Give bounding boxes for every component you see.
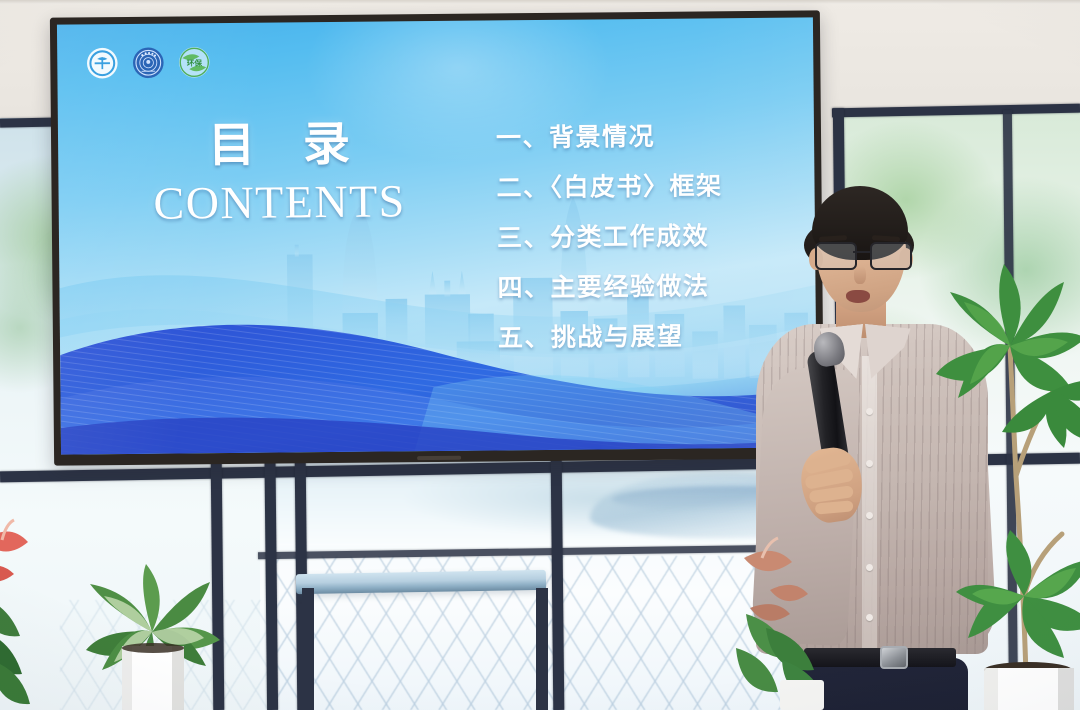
toc-item-5[interactable]: 五、挑战与展望 xyxy=(498,324,724,351)
belt-buckle xyxy=(880,646,908,669)
wall-mounted-tv[interactable]: 环保 目 录 CONTENTS 一、背景情况 二、〈白皮书〉框架 三、分类工作成… xyxy=(50,10,824,465)
slide-toc-list: 一、背景情况 二、〈白皮书〉框架 三、分类工作成效 四、主要经验做法 五、挑战与… xyxy=(496,124,724,351)
ceiling-line xyxy=(0,0,1080,4)
nose xyxy=(854,266,866,284)
slide-title-en: CONTENTS xyxy=(114,174,445,231)
shirt-button-1 xyxy=(866,408,873,415)
green-environment-logo: 环保 xyxy=(177,45,211,79)
mouth xyxy=(846,290,870,303)
dracaena-foliage xyxy=(936,264,1080,658)
shirt-button-3 xyxy=(866,512,873,519)
slide-logo-row: 环保 xyxy=(85,45,211,80)
eyeglasses-icon xyxy=(814,242,910,268)
shirt-button-4 xyxy=(866,564,873,571)
shirt-button-5 xyxy=(866,614,873,621)
dieffenbachia-plant xyxy=(74,548,234,710)
tv-screen[interactable]: 环保 目 录 CONTENTS 一、背景情况 二、〈白皮书〉框架 三、分类工作成… xyxy=(57,17,817,454)
ledge-leg-left xyxy=(302,588,314,710)
anthurium-pink-plant xyxy=(726,528,846,710)
svg-text:环保: 环保 xyxy=(187,58,203,68)
shenzhen-transport-logo xyxy=(85,46,119,80)
screenshot-root: 环保 目 录 CONTENTS 一、背景情况 二、〈白皮书〉框架 三、分类工作成… xyxy=(0,0,1080,710)
government-emblem-logo xyxy=(131,46,165,80)
shirt-button-2 xyxy=(866,460,873,467)
ledge-leg-right xyxy=(536,588,548,710)
slide-title-cn: 目 录 xyxy=(114,119,444,173)
dracaena-tall-plant xyxy=(928,176,1080,710)
toc-item-1[interactable]: 一、背景情况 xyxy=(496,124,722,151)
toc-item-3[interactable]: 三、分类工作成效 xyxy=(497,224,723,251)
shirt-placket xyxy=(862,356,877,656)
slide-title-block: 目 录 CONTENTS xyxy=(114,119,445,231)
toc-item-4[interactable]: 四、主要经验做法 xyxy=(497,274,723,301)
toc-item-2[interactable]: 二、〈白皮书〉框架 xyxy=(496,174,722,201)
